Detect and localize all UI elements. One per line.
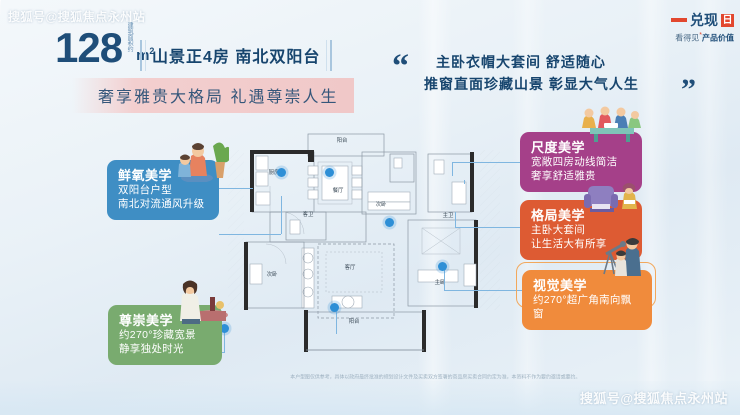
brand-name: 兑现: [690, 10, 718, 30]
callout-sub-1: 主卧大套间: [531, 224, 632, 238]
leader-line: [455, 227, 521, 228]
callout-sub-1: 约270°珍藏宽景: [119, 329, 212, 343]
callout-sub-2: 奢享舒适雅贵: [531, 170, 632, 184]
brand-primary-row: 兑现 日: [671, 10, 734, 30]
quote-open-mark: “: [392, 50, 409, 84]
watermark-bottom: 搜狐号@搜狐焦点永州站: [580, 388, 728, 407]
room-label: 次卧: [267, 270, 278, 278]
callout-title: 视觉美学: [533, 277, 642, 294]
callout-title: 格局美学: [531, 207, 632, 224]
callout-title: 鲜氧美学: [118, 167, 209, 184]
floor-plan-disclaimer: 本户型图仅供参考，具体以政府最终批准的规划设计文件及买卖双方签署的商品房买卖合同…: [228, 374, 643, 381]
leader-line: [455, 212, 456, 228]
callout-sub-2: 静享独处时光: [119, 343, 212, 357]
brand-slogan-prefix: 看得见: [675, 34, 699, 43]
brand-square-badge: 日: [721, 14, 734, 27]
plan-hotspot-master-bed[interactable]: [438, 262, 447, 271]
callout-honor[interactable]: 尊崇美学 约270°珍藏宽景 静享独处时光: [108, 305, 222, 365]
quote-close-mark: ”: [681, 75, 696, 105]
leader-line: [464, 180, 465, 184]
brand-badge: 兑现 日 看得见*产品价值: [671, 10, 734, 44]
leader-line: [444, 290, 522, 291]
callout-sub-2: 南北对流通风升级: [118, 198, 209, 212]
tagline-box: 山景正4房 南北双阳台: [140, 40, 332, 71]
room-label: 客厅: [345, 263, 356, 271]
room-label: 次卧: [376, 200, 387, 208]
tagline-text: 山景正4房 南北双阳台: [152, 43, 320, 67]
callout-sub-1: 宽敞四房动线简洁: [531, 156, 632, 170]
room-label: 阳台: [337, 136, 348, 144]
quote-block: “ 主卧衣帽大套间 舒适随心 推窗直面珍藏山景 彰显大气人生 ”: [392, 52, 722, 95]
room-label: 主卫: [443, 211, 454, 219]
poster-canvas: 搜狐号@搜狐焦点永州站 搜狐号@搜狐焦点永州站 128 建筑面积约 m2 山景正…: [0, 0, 740, 415]
leader-line: [281, 196, 282, 234]
plan-hotspot-balcony-north[interactable]: [277, 168, 286, 177]
leader-line: [219, 188, 253, 189]
room-label: 阳台: [349, 317, 360, 325]
leader-line: [452, 162, 522, 163]
quote-line-1: 主卧衣帽大套间 舒适随心: [436, 52, 722, 74]
callout-title: 尊崇美学: [119, 312, 212, 329]
callout-vision[interactable]: 视觉美学 约270°超广角南向飘窗: [522, 270, 652, 330]
brand-dash-icon: [671, 18, 687, 22]
callout-sub-2: 让生活大有所享: [531, 238, 632, 252]
callout-fresh-oxygen[interactable]: 鲜氧美学 双阳台户型 南北对流通风升级: [107, 160, 219, 220]
area-note: 建筑面积约: [126, 22, 132, 68]
leader-line: [444, 268, 445, 291]
callout-layout[interactable]: 格局美学 主卧大套间 让生活大有所享: [520, 200, 642, 260]
callout-title: 尺度美学: [531, 139, 632, 156]
quote-lines: 主卧衣帽大套间 舒适随心 推窗直面珍藏山景 彰显大气人生: [392, 52, 722, 95]
leader-line: [219, 234, 281, 235]
callout-scale[interactable]: 尺度美学 宽敞四房动线简洁 奢享舒适雅贵: [520, 132, 642, 192]
plan-hotspot-dining[interactable]: [325, 168, 334, 177]
quote-line-2: 推窗直面珍藏山景 彰显大气人生: [424, 74, 722, 96]
room-label: 客卫: [303, 210, 314, 218]
callout-sub-1: 双阳台户型: [118, 184, 209, 198]
brand-slogan: 看得见*产品价值: [671, 32, 734, 44]
plan-hotspot-guest-bath[interactable]: [385, 218, 394, 227]
area-number: 128: [55, 28, 122, 68]
leader-line: [452, 162, 453, 176]
room-label: 餐厅: [333, 186, 344, 194]
brand-slogan-suffix: 产品价值: [702, 34, 734, 43]
subline-text: 奢享雅贵大格局 礼遇尊崇人生: [98, 83, 338, 107]
callout-sub-1: 约270°超广角南向飘窗: [533, 294, 642, 322]
plan-hotspot-balcony-south[interactable]: [330, 303, 339, 312]
leader-line: [336, 310, 337, 334]
subline-banner: 奢享雅贵大格局 礼遇尊崇人生: [72, 78, 354, 113]
